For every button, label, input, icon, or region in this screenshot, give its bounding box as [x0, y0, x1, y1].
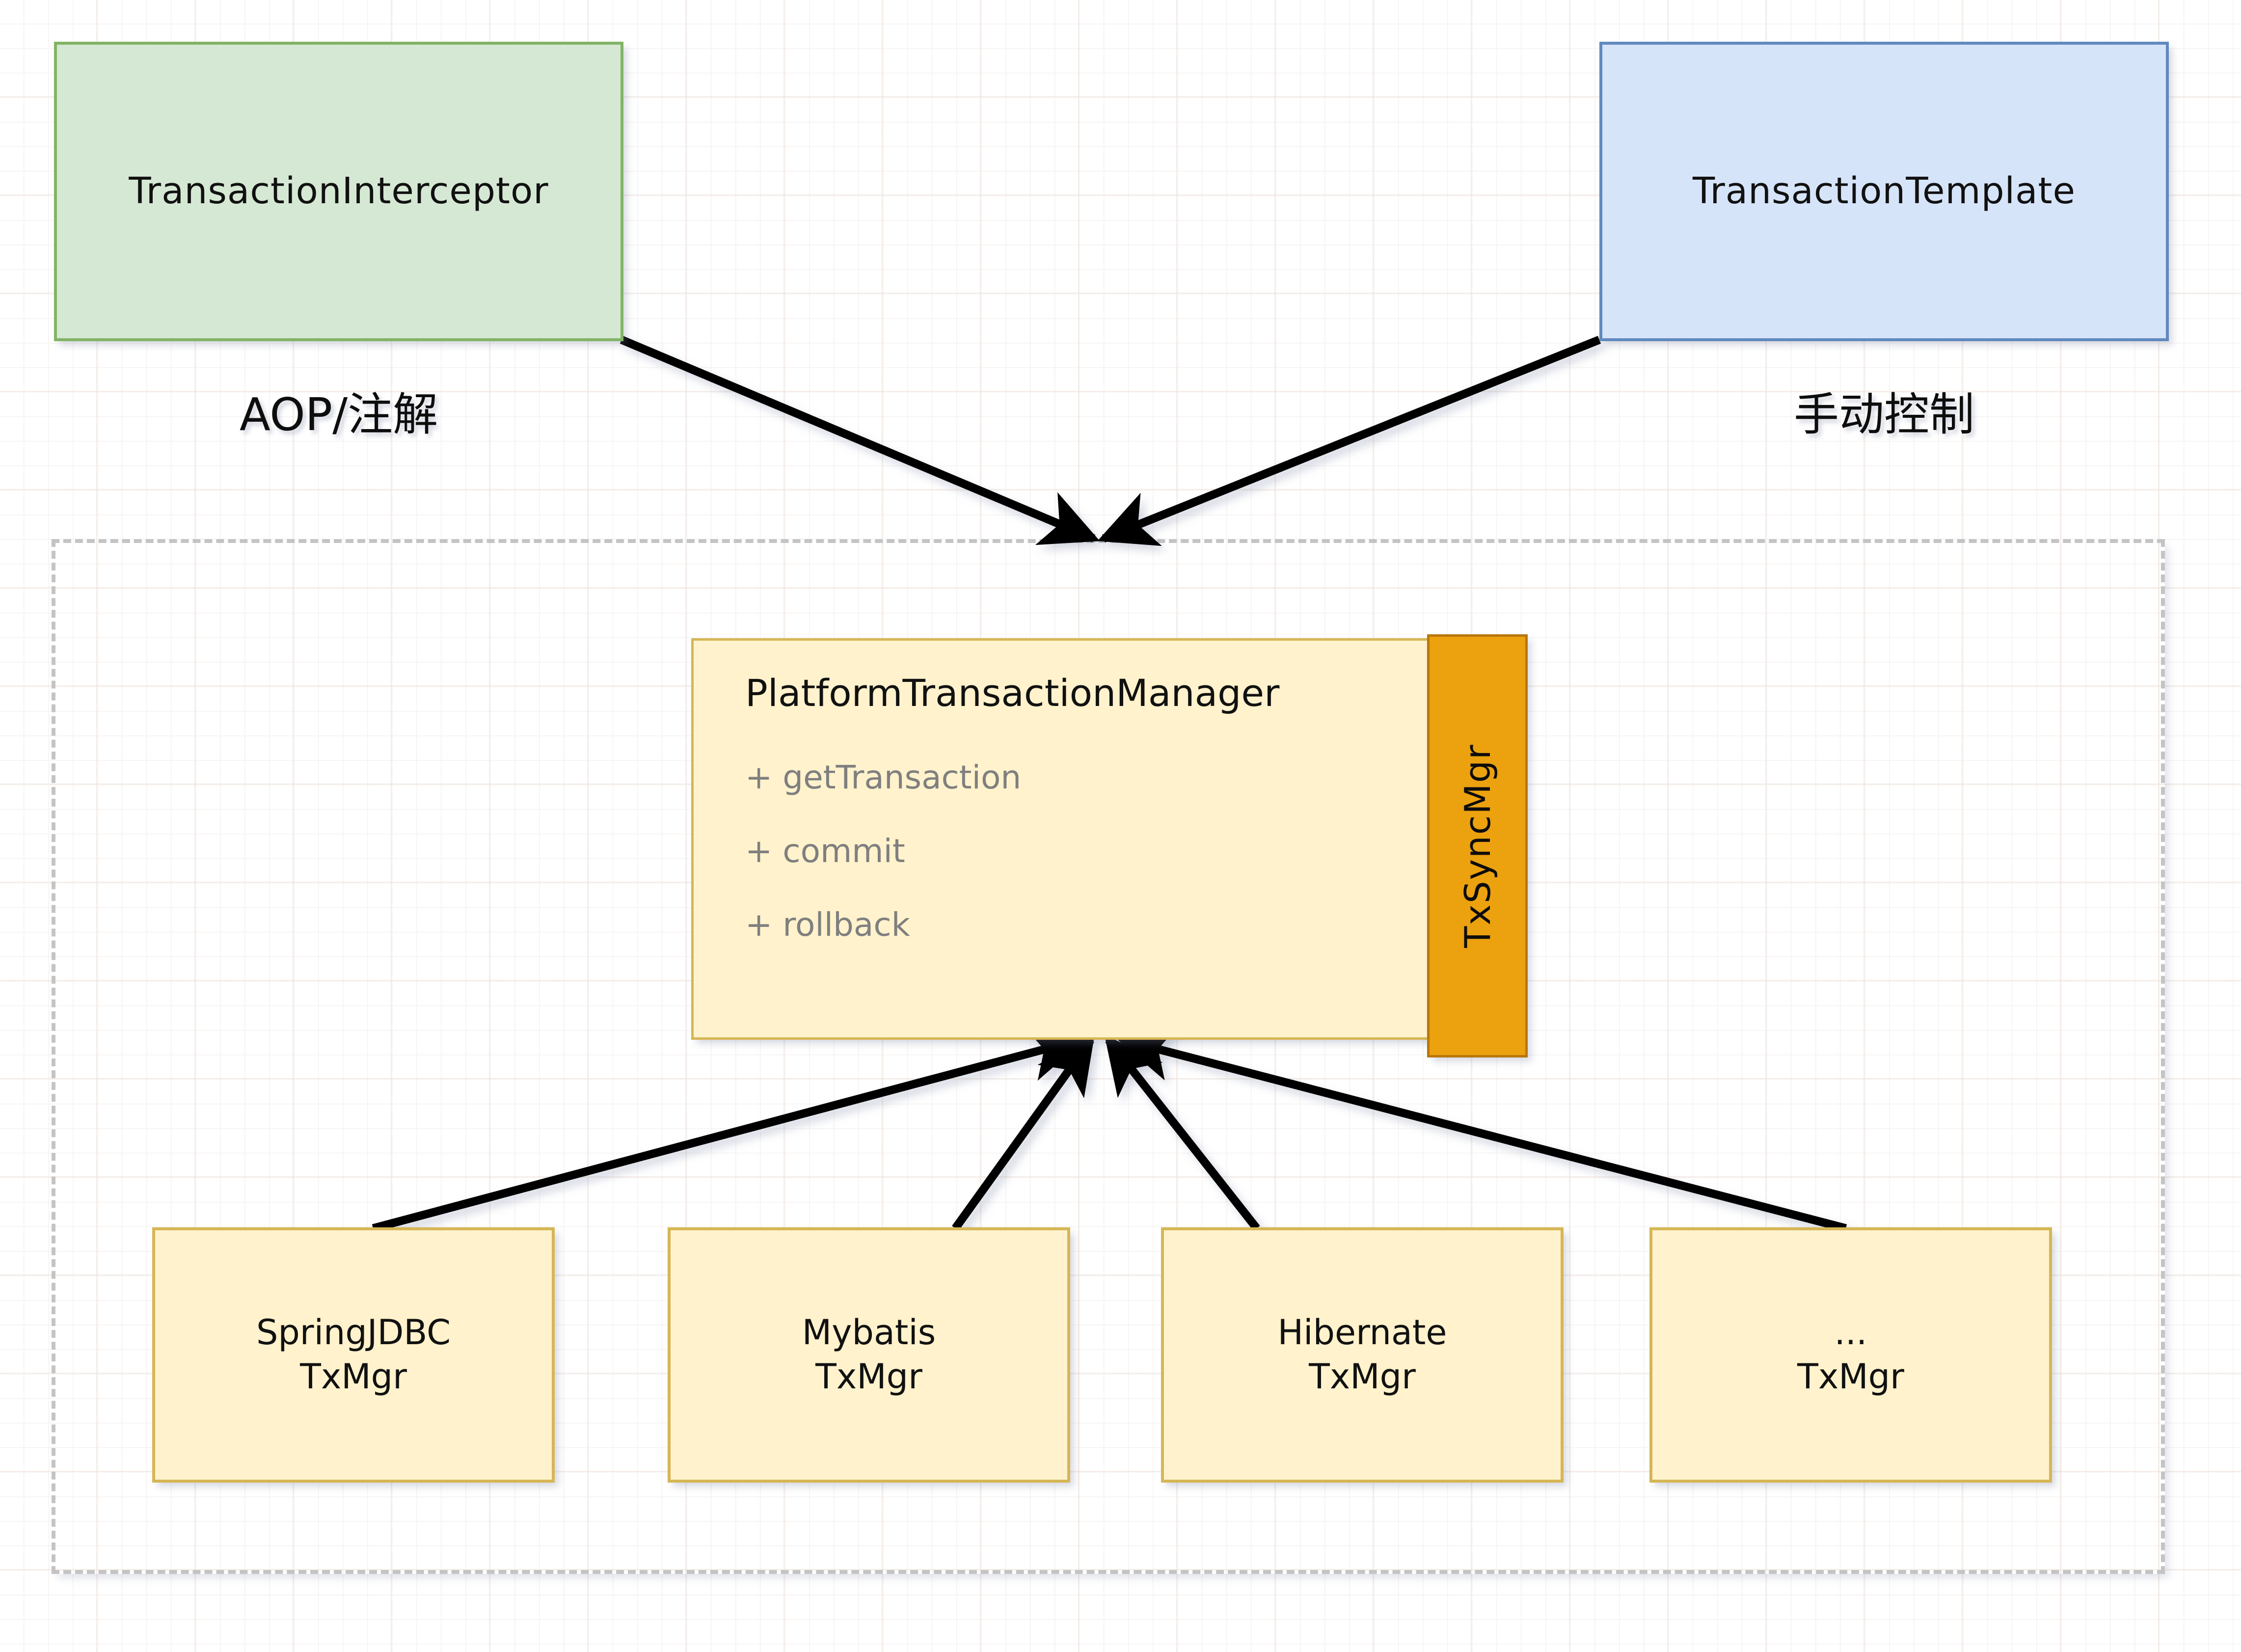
leaf-line-1: ...: [1835, 1312, 1867, 1353]
node-spring-jdbc-txmgr[interactable]: SpringJDBCTxMgr: [152, 1227, 555, 1483]
node-tx-sync-mgr-tab[interactable]: TxSyncMgr: [1427, 634, 1528, 1057]
node-other-txmgr[interactable]: ...TxMgr: [1649, 1227, 2052, 1483]
manager-method-get-transaction: + getTransaction: [745, 758, 1021, 796]
leaf-line-1: SpringJDBC: [256, 1312, 451, 1353]
leaf-line-2: TxMgr: [815, 1356, 922, 1397]
node-hibernate-txmgr-label: HibernateTxMgr: [1278, 1311, 1447, 1399]
node-mybatis-txmgr-label: MybatisTxMgr: [802, 1311, 936, 1399]
leaf-line-1: Mybatis: [802, 1312, 936, 1353]
node-transaction-interceptor[interactable]: TransactionInterceptor: [54, 42, 623, 341]
node-mybatis-txmgr[interactable]: MybatisTxMgr: [668, 1227, 1070, 1483]
caption-manual-control: 手动控制: [1599, 378, 2169, 443]
leaf-line-2: TxMgr: [1309, 1356, 1416, 1397]
node-spring-jdbc-txmgr-label: SpringJDBCTxMgr: [256, 1311, 451, 1399]
manager-method-rollback: + rollback: [745, 906, 910, 944]
node-transaction-template-label: TransactionTemplate: [1693, 170, 2076, 213]
node-platform-transaction-manager[interactable]: PlatformTransactionManager + getTransact…: [691, 638, 1430, 1040]
diagram-canvas: TransactionInterceptor AOP/注解 Transactio…: [0, 0, 2241, 1652]
manager-title: PlatformTransactionManager: [745, 671, 1279, 715]
manager-method-commit: + commit: [745, 832, 905, 870]
node-transaction-interceptor-label: TransactionInterceptor: [129, 170, 548, 213]
leaf-line-1: Hibernate: [1278, 1312, 1447, 1353]
arrow-template-to-manager: [1104, 340, 1599, 539]
arrow-interceptor-to-manager: [621, 340, 1094, 539]
node-hibernate-txmgr[interactable]: HibernateTxMgr: [1161, 1227, 1564, 1483]
node-other-txmgr-label: ...TxMgr: [1797, 1311, 1904, 1399]
tx-sync-mgr-label: TxSyncMgr: [1457, 744, 1498, 948]
leaf-line-2: TxMgr: [300, 1356, 407, 1397]
node-transaction-template[interactable]: TransactionTemplate: [1599, 42, 2169, 341]
leaf-line-2: TxMgr: [1797, 1356, 1904, 1397]
caption-aop-annotation: AOP/注解: [54, 378, 623, 443]
